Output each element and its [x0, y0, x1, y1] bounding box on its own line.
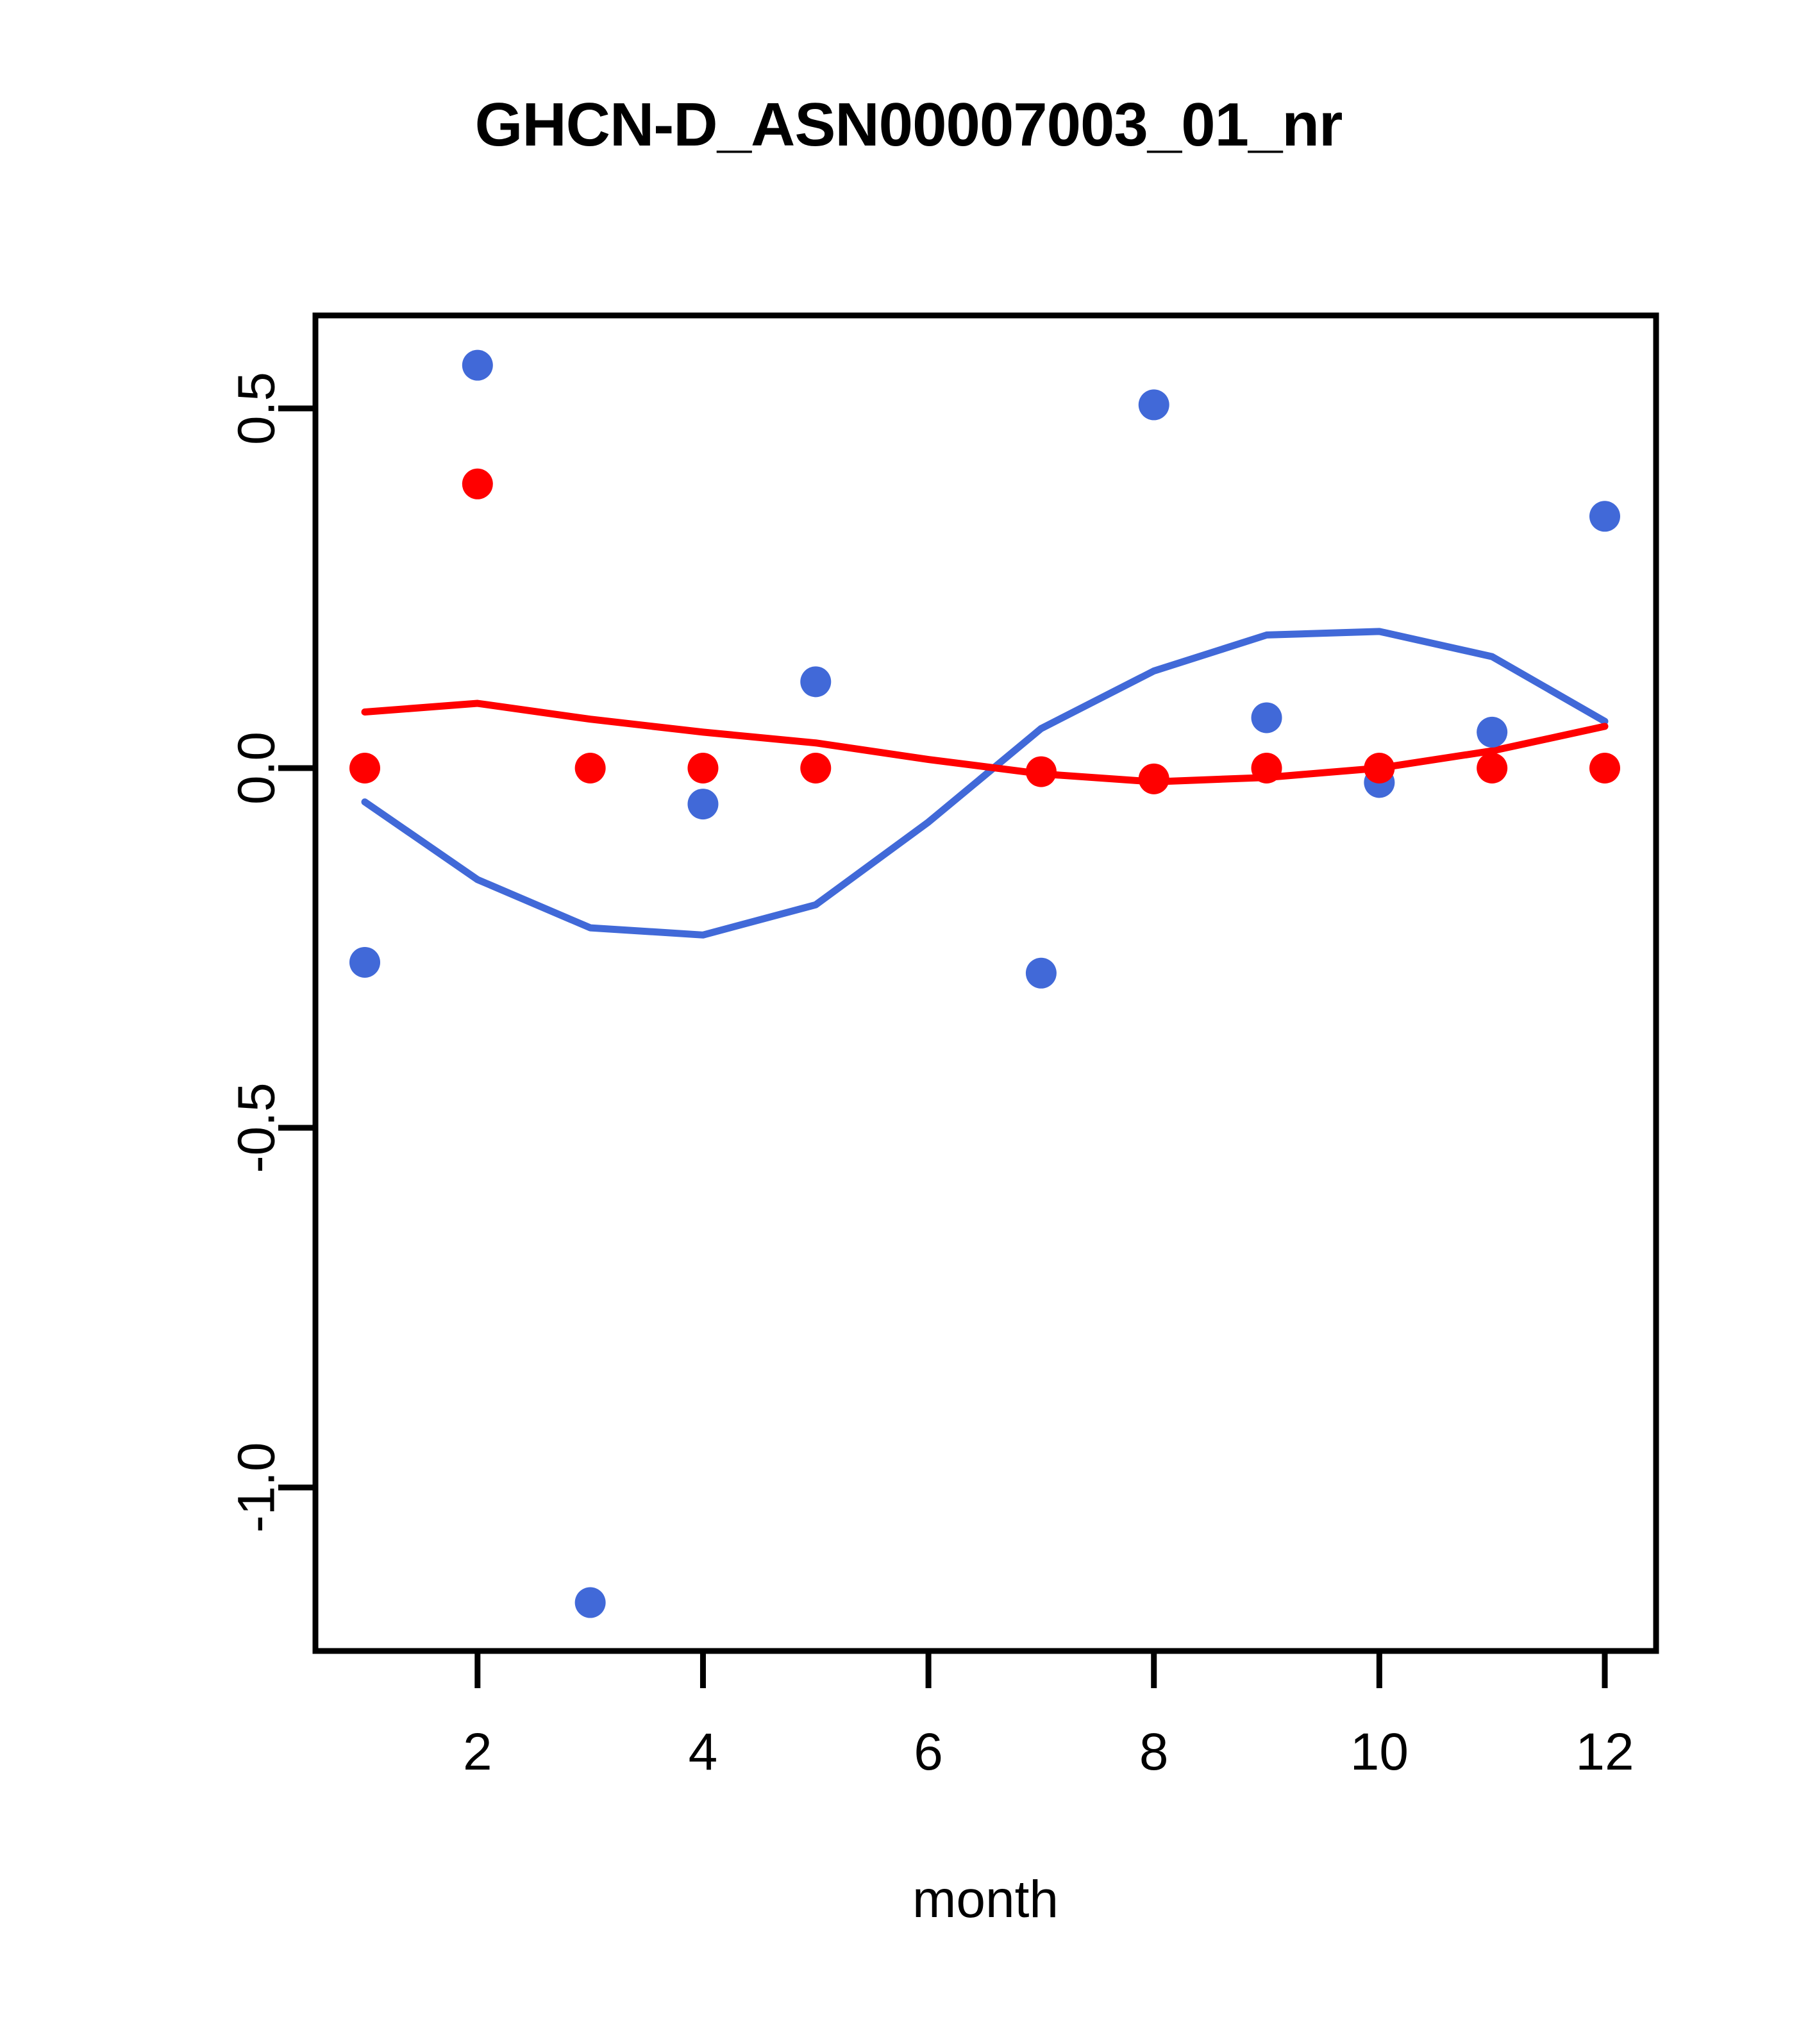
x-axis-tick-label: 2 — [463, 1723, 492, 1781]
y-axis-ticks — [278, 408, 315, 1487]
data-point — [1477, 753, 1507, 783]
data-point — [1477, 717, 1507, 748]
x-axis-tick-label: 6 — [914, 1723, 943, 1781]
y-axis-tick-label: -0.5 — [228, 1082, 286, 1173]
data-point — [687, 753, 718, 783]
chart-canvas: GHCN-D_ASN00007003_01_nr 0.50.0-0.5-1.0 … — [0, 0, 1817, 2044]
series-line-red-smooth-line — [365, 703, 1605, 782]
data-point — [1252, 753, 1282, 783]
plot-border — [315, 315, 1656, 1651]
data-point — [349, 947, 380, 978]
y-axis-tick-label: 0.0 — [228, 732, 286, 805]
x-axis-title: month — [912, 1870, 1059, 1929]
data-point — [1364, 753, 1394, 783]
x-axis-tick-label: 4 — [689, 1723, 718, 1781]
series-line-blue-smooth-line — [365, 632, 1605, 935]
y-axis-tick-labels: 0.50.0-0.5-1.0 — [228, 372, 286, 1533]
y-axis-tick-label: 0.5 — [228, 372, 286, 445]
x-axis-ticks — [478, 1651, 1605, 1688]
data-point — [1026, 958, 1057, 989]
data-point — [1139, 389, 1169, 420]
data-point — [800, 666, 831, 697]
x-axis-tick-labels: 24681012 — [463, 1723, 1634, 1781]
data-point — [462, 350, 493, 381]
data-point — [575, 1587, 606, 1618]
data-point — [1252, 702, 1282, 733]
data-point — [349, 753, 380, 783]
series-lines — [365, 632, 1605, 935]
data-point — [575, 753, 606, 783]
series-points — [349, 350, 1620, 1618]
data-point — [800, 753, 831, 783]
y-axis-tick-label: -1.0 — [228, 1442, 286, 1532]
data-point — [687, 789, 718, 819]
x-axis-tick-label: 8 — [1139, 1723, 1169, 1781]
plot-frame — [315, 315, 1656, 1651]
x-axis-tick-label: 12 — [1575, 1723, 1634, 1781]
x-axis-tick-label: 10 — [1350, 1723, 1409, 1781]
scatter-plot: 0.50.0-0.5-1.0 24681012 month — [0, 0, 1817, 2044]
data-point — [1589, 753, 1620, 783]
data-point — [1139, 764, 1169, 794]
data-point — [462, 469, 493, 499]
data-point — [1589, 501, 1620, 532]
data-point — [1026, 757, 1057, 787]
